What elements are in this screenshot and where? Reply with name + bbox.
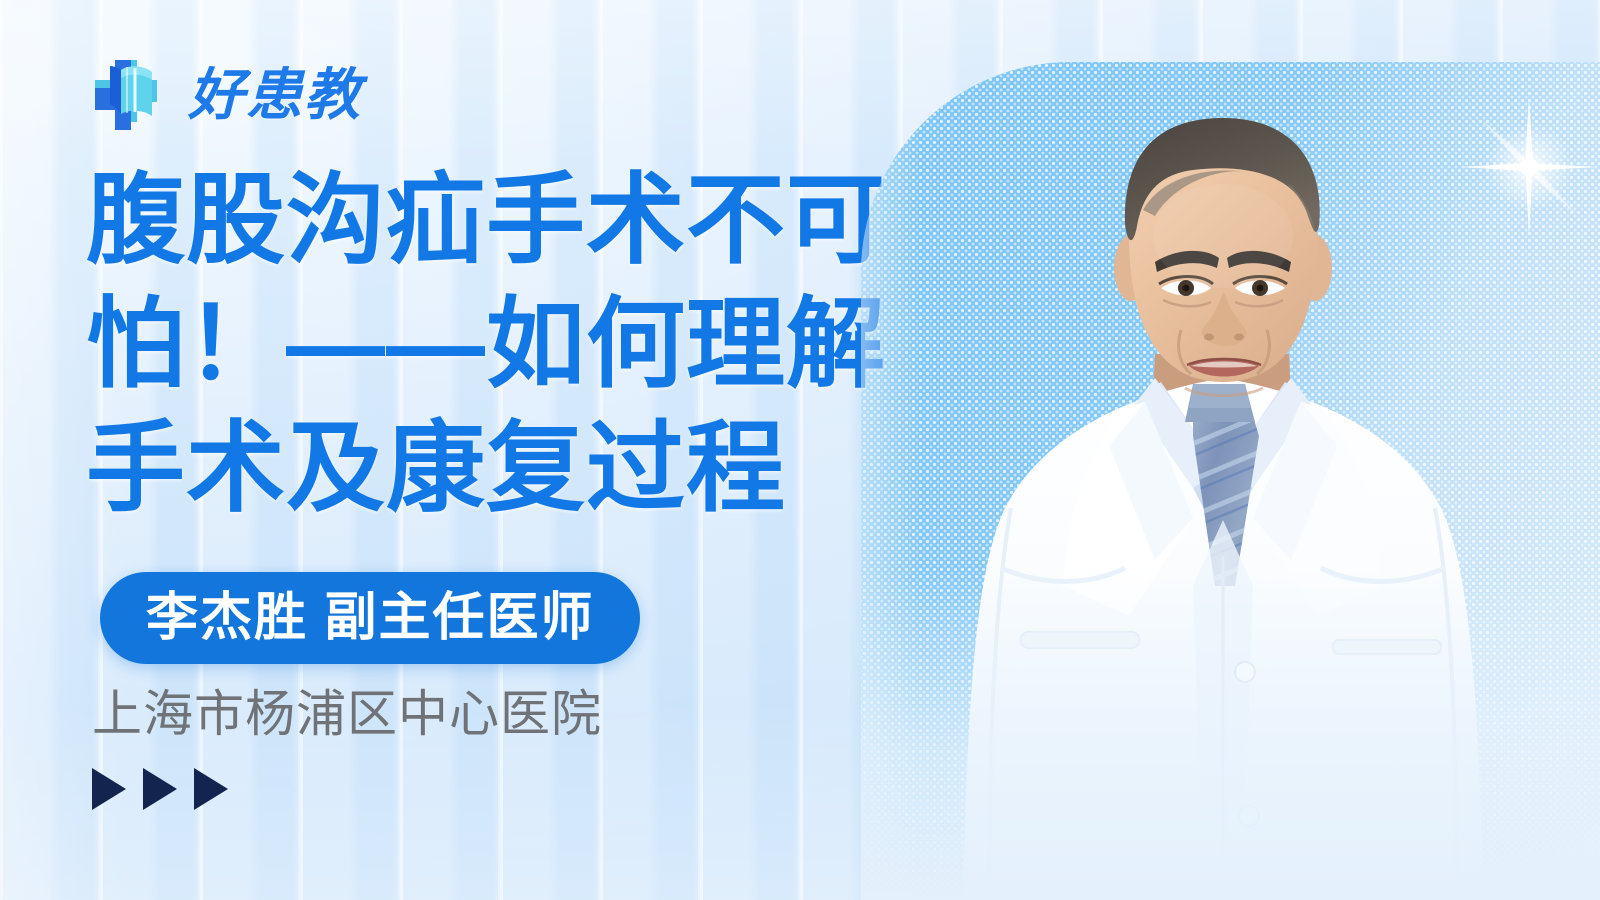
play-triangle-icon — [92, 768, 126, 810]
hospital-name: 上海市杨浦区中心医院 — [92, 684, 602, 744]
speaker-badge-label: 李杰胜 副主任医师 — [146, 592, 594, 644]
page-title: 腹股沟疝手术不可 怕！——如何理解 手术及康复过程 — [86, 158, 886, 530]
doctor-photo-panel — [861, 62, 1600, 900]
play-triangle-icon — [143, 768, 177, 810]
title-line-1: 腹股沟疝手术不可 — [86, 158, 886, 282]
play-triangle-icon — [194, 768, 228, 810]
title-line-2: 怕！——如何理解 — [86, 282, 886, 406]
play-arrows — [92, 768, 228, 810]
title-line-3: 手术及康复过程 — [86, 406, 886, 530]
brand-name: 好患教 — [188, 67, 362, 123]
video-cover-slide: 好患教 腹股沟疝手术不可 怕！——如何理解 手术及康复过程 李杰胜 副主任医师 … — [0, 0, 1600, 900]
medical-cross-book-icon — [88, 52, 174, 138]
speaker-badge: 李杰胜 副主任医师 — [100, 572, 640, 664]
photo-bottom-fade — [861, 570, 1600, 900]
brand-logo[interactable]: 好患教 — [88, 52, 362, 138]
